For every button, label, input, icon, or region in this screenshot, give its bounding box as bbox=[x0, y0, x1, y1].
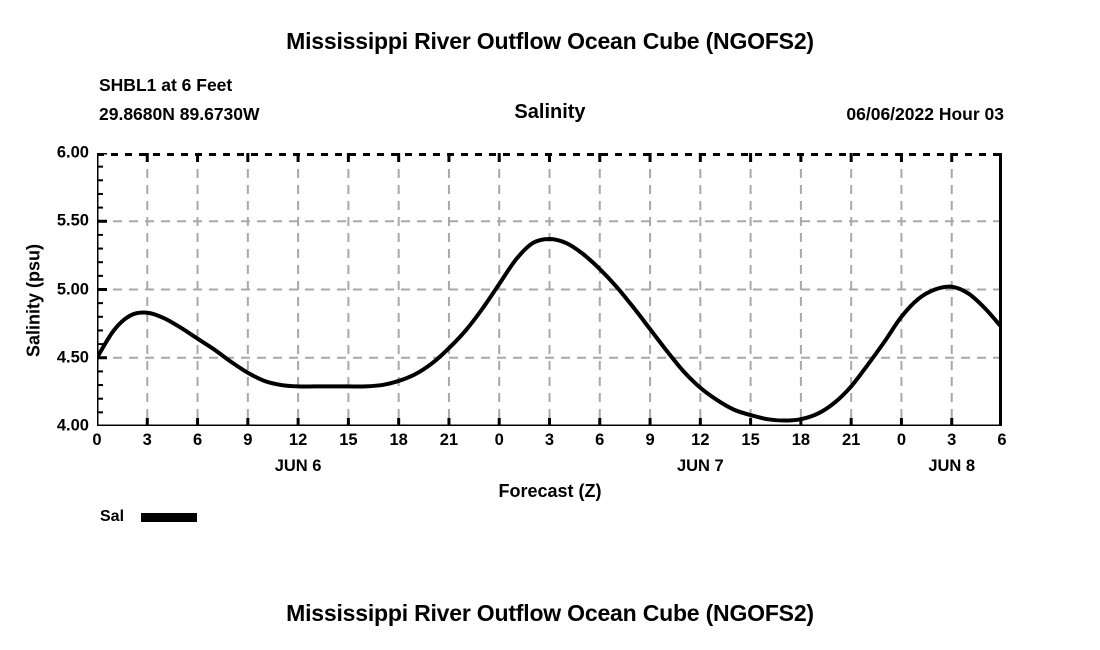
plot-area bbox=[97, 153, 1002, 426]
x-day-label: JUN 7 bbox=[640, 457, 760, 476]
y-tick-label: 5.00 bbox=[33, 280, 89, 299]
x-tick-label: 15 bbox=[731, 431, 771, 450]
x-tick-label: 12 bbox=[680, 431, 720, 450]
x-tick-label: 9 bbox=[228, 431, 268, 450]
x-tick-label: 3 bbox=[530, 431, 570, 450]
salinity-line-chart bbox=[97, 153, 1002, 426]
x-tick-label: 3 bbox=[932, 431, 972, 450]
y-tick-label: 6.00 bbox=[33, 144, 89, 163]
chart-legend: Sal bbox=[100, 508, 197, 526]
page-title-bottom: Mississippi River Outflow Ocean Cube (NG… bbox=[0, 600, 1100, 627]
x-tick-label: 6 bbox=[982, 431, 1022, 450]
model-run-label: 06/06/2022 Hour 03 bbox=[846, 104, 1004, 125]
x-day-label: JUN 8 bbox=[892, 457, 1012, 476]
x-tick-label: 21 bbox=[831, 431, 871, 450]
x-tick-label: 18 bbox=[781, 431, 821, 450]
x-tick-label: 12 bbox=[278, 431, 318, 450]
x-tick-label: 0 bbox=[479, 431, 519, 450]
legend-swatch-sal bbox=[141, 513, 197, 522]
x-tick-label: 18 bbox=[379, 431, 419, 450]
x-tick-label: 9 bbox=[630, 431, 670, 450]
chart-page: Mississippi River Outflow Ocean Cube (NG… bbox=[0, 0, 1100, 650]
x-axis-title: Forecast (Z) bbox=[0, 481, 1100, 502]
x-tick-label: 3 bbox=[127, 431, 167, 450]
legend-label-sal: Sal bbox=[100, 508, 124, 526]
x-day-label: JUN 6 bbox=[238, 457, 358, 476]
x-tick-label: 6 bbox=[178, 431, 218, 450]
x-tick-label: 21 bbox=[429, 431, 469, 450]
station-label: SHBL1 at 6 Feet bbox=[99, 75, 232, 96]
x-tick-label: 0 bbox=[77, 431, 117, 450]
y-tick-label: 5.50 bbox=[33, 212, 89, 231]
y-tick-label: 4.50 bbox=[33, 348, 89, 367]
x-tick-label: 6 bbox=[580, 431, 620, 450]
page-title-top: Mississippi River Outflow Ocean Cube (NG… bbox=[0, 28, 1100, 55]
x-tick-label: 15 bbox=[328, 431, 368, 450]
x-tick-label: 0 bbox=[881, 431, 921, 450]
grid-lines bbox=[97, 153, 1002, 426]
